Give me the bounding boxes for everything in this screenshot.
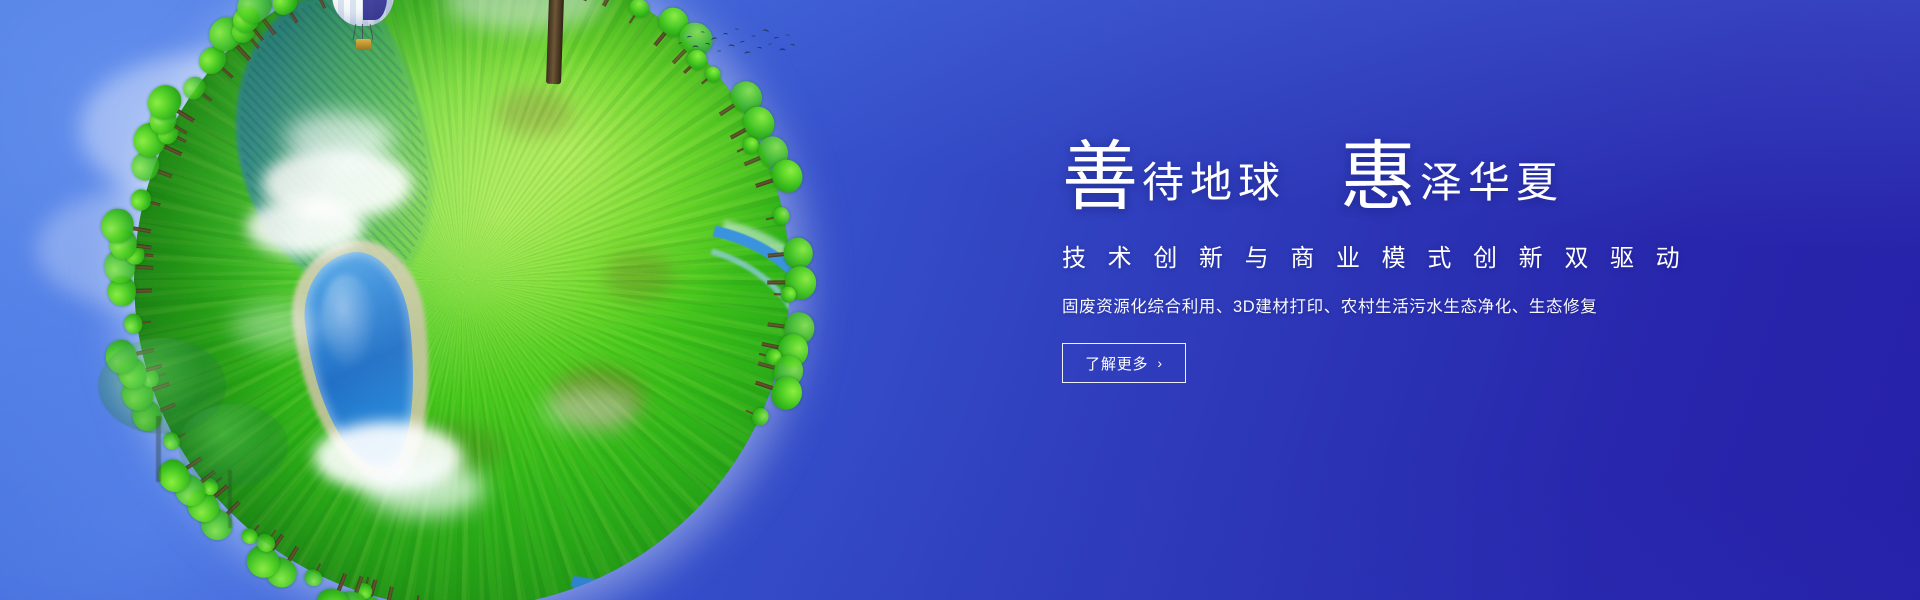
bird-icon (768, 43, 773, 47)
hero-tree-trunk (546, 0, 565, 84)
bird-icon (785, 34, 789, 38)
globe-illustration (110, 0, 810, 600)
hot-air-balloon-icon (332, 0, 394, 56)
learn-more-button[interactable]: 了解更多 › (1062, 343, 1186, 383)
banner-subtitle: 技 术 创 新 与 商 业 模 式 创 新 双 驱 动 (1062, 238, 1742, 273)
learn-more-label: 了解更多 (1085, 353, 1148, 374)
bird-icon (744, 51, 751, 57)
bird-icon (723, 33, 728, 37)
bird-icon (700, 31, 704, 35)
balloon-rope (370, 24, 374, 40)
chevron-right-icon: › (1157, 356, 1162, 370)
headline-text-zehuaxia: 泽华夏 (1420, 161, 1564, 207)
bird-icon (678, 42, 683, 46)
banner-content: 善待地球惠泽华夏 技 术 创 新 与 商 业 模 式 创 新 双 驱 动 固废资… (1062, 140, 1742, 383)
bird-flock-icon (676, 22, 794, 68)
hero-banner: 善待地球惠泽华夏 技 术 创 新 与 商 业 模 式 创 新 双 驱 动 固废资… (0, 0, 1920, 600)
reflection-tree-trunk (156, 416, 161, 482)
rim-tree-trunk (416, 595, 419, 600)
balloon-rope (362, 24, 363, 40)
bird-icon (704, 42, 710, 47)
bird-icon (757, 47, 763, 52)
page-title: 善待地球惠泽华夏 (1062, 140, 1742, 216)
bird-icon (692, 45, 699, 50)
reflection-tree-trunk (228, 470, 232, 528)
balloon-rope (353, 24, 357, 40)
bird-icon (739, 40, 745, 45)
bird-icon (762, 29, 770, 36)
headline-char-shan: 善 (1062, 136, 1138, 220)
hero-tree-icon (428, 0, 688, 80)
bird-icon (687, 36, 693, 41)
bird-icon (779, 48, 786, 53)
bird-icon (728, 44, 735, 50)
headline-char-hui: 惠 (1340, 136, 1416, 220)
banner-description: 固废资源化综合利用、3D建材打印、农村生活污水生态净化、生态修复 (1062, 293, 1742, 317)
reflection-tree-icon (174, 404, 294, 534)
headline-text-daidiqiu: 待地球 (1142, 161, 1286, 207)
bird-icon (752, 35, 756, 38)
bird-icon (711, 37, 719, 44)
bird-icon (734, 28, 739, 32)
bird-icon (774, 37, 780, 42)
reflection-tree-crown (178, 404, 288, 486)
bird-icon (717, 50, 721, 54)
balloon-basket (356, 39, 371, 50)
bird-icon (789, 43, 795, 48)
